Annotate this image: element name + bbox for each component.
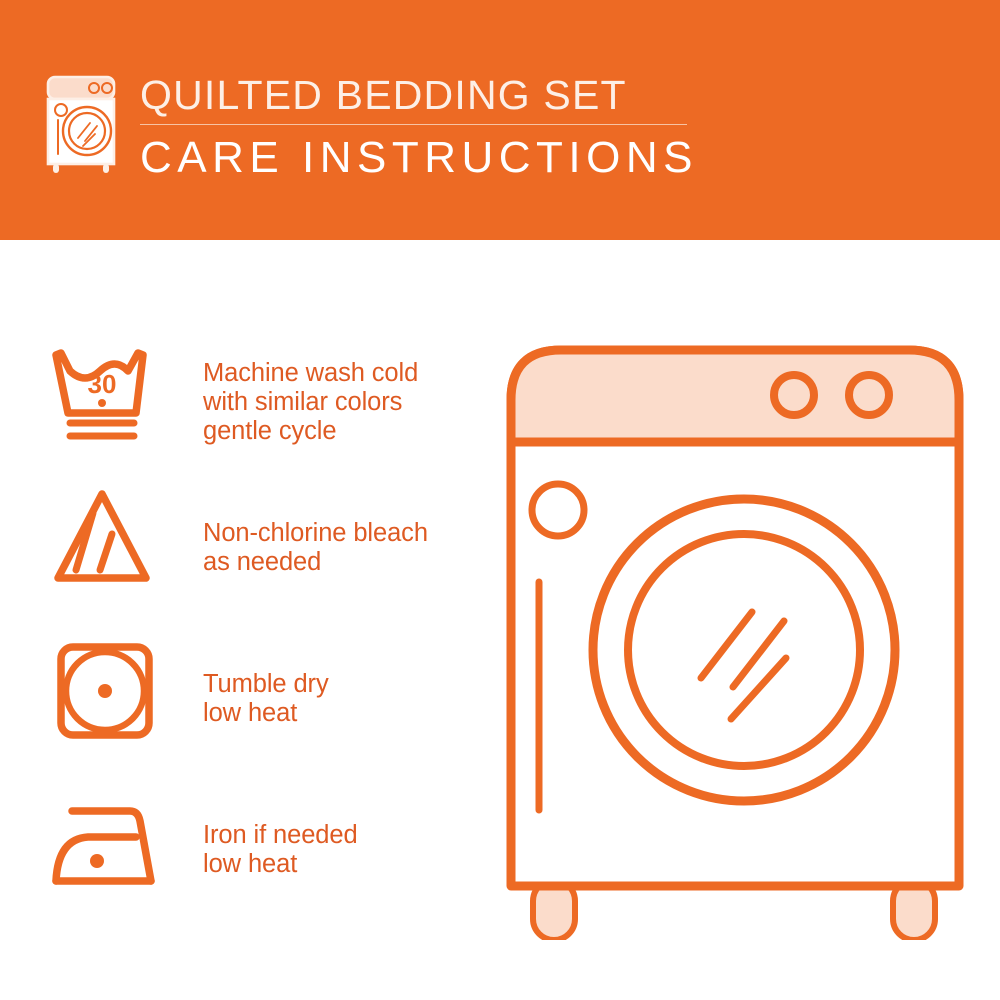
care-text-line: Machine wash cold [203,359,483,388]
care-item-bleach-text: Non-chlorine bleach as needed [203,519,483,577]
care-item-iron-text: Iron if needed low heat [203,821,483,879]
care-text-line: Iron if needed [203,821,483,850]
page-title: QUILTED BEDDING SET [140,72,700,118]
header-banner: QUILTED BEDDING SET CARE INSTRUCTIONS [0,0,1000,240]
iron-icon [50,801,162,893]
care-item-wash-text: Machine wash cold with similar colors ge… [203,359,483,446]
header-title-group: QUILTED BEDDING SET CARE INSTRUCTIONS [140,72,700,183]
care-text-line: Tumble dry [203,670,483,699]
page-subtitle: CARE INSTRUCTIONS [140,133,700,183]
wash-temperature-label: 30 [88,369,117,399]
wash-basin-30-icon: 30 [50,347,154,443]
care-text-line: with similar colors [203,388,483,417]
care-text-line: Non-chlorine bleach [203,519,483,548]
care-text-line: low heat [203,850,483,879]
care-text-line: low heat [203,699,483,728]
tumble-dry-icon [56,642,154,740]
washing-machine-illustration [495,330,975,940]
care-text-line: gentle cycle [203,417,483,446]
care-instructions-list: 30 Machine wash cold with similar colors… [0,240,490,1000]
title-divider [140,124,687,125]
care-text-line: as needed [203,548,483,577]
bleach-triangle-icon [50,488,154,584]
washing-machine-icon [44,74,118,176]
infographic-page: QUILTED BEDDING SET CARE INSTRUCTIONS 30 [0,0,1000,1000]
care-item-tumble-dry-text: Tumble dry low heat [203,670,483,728]
